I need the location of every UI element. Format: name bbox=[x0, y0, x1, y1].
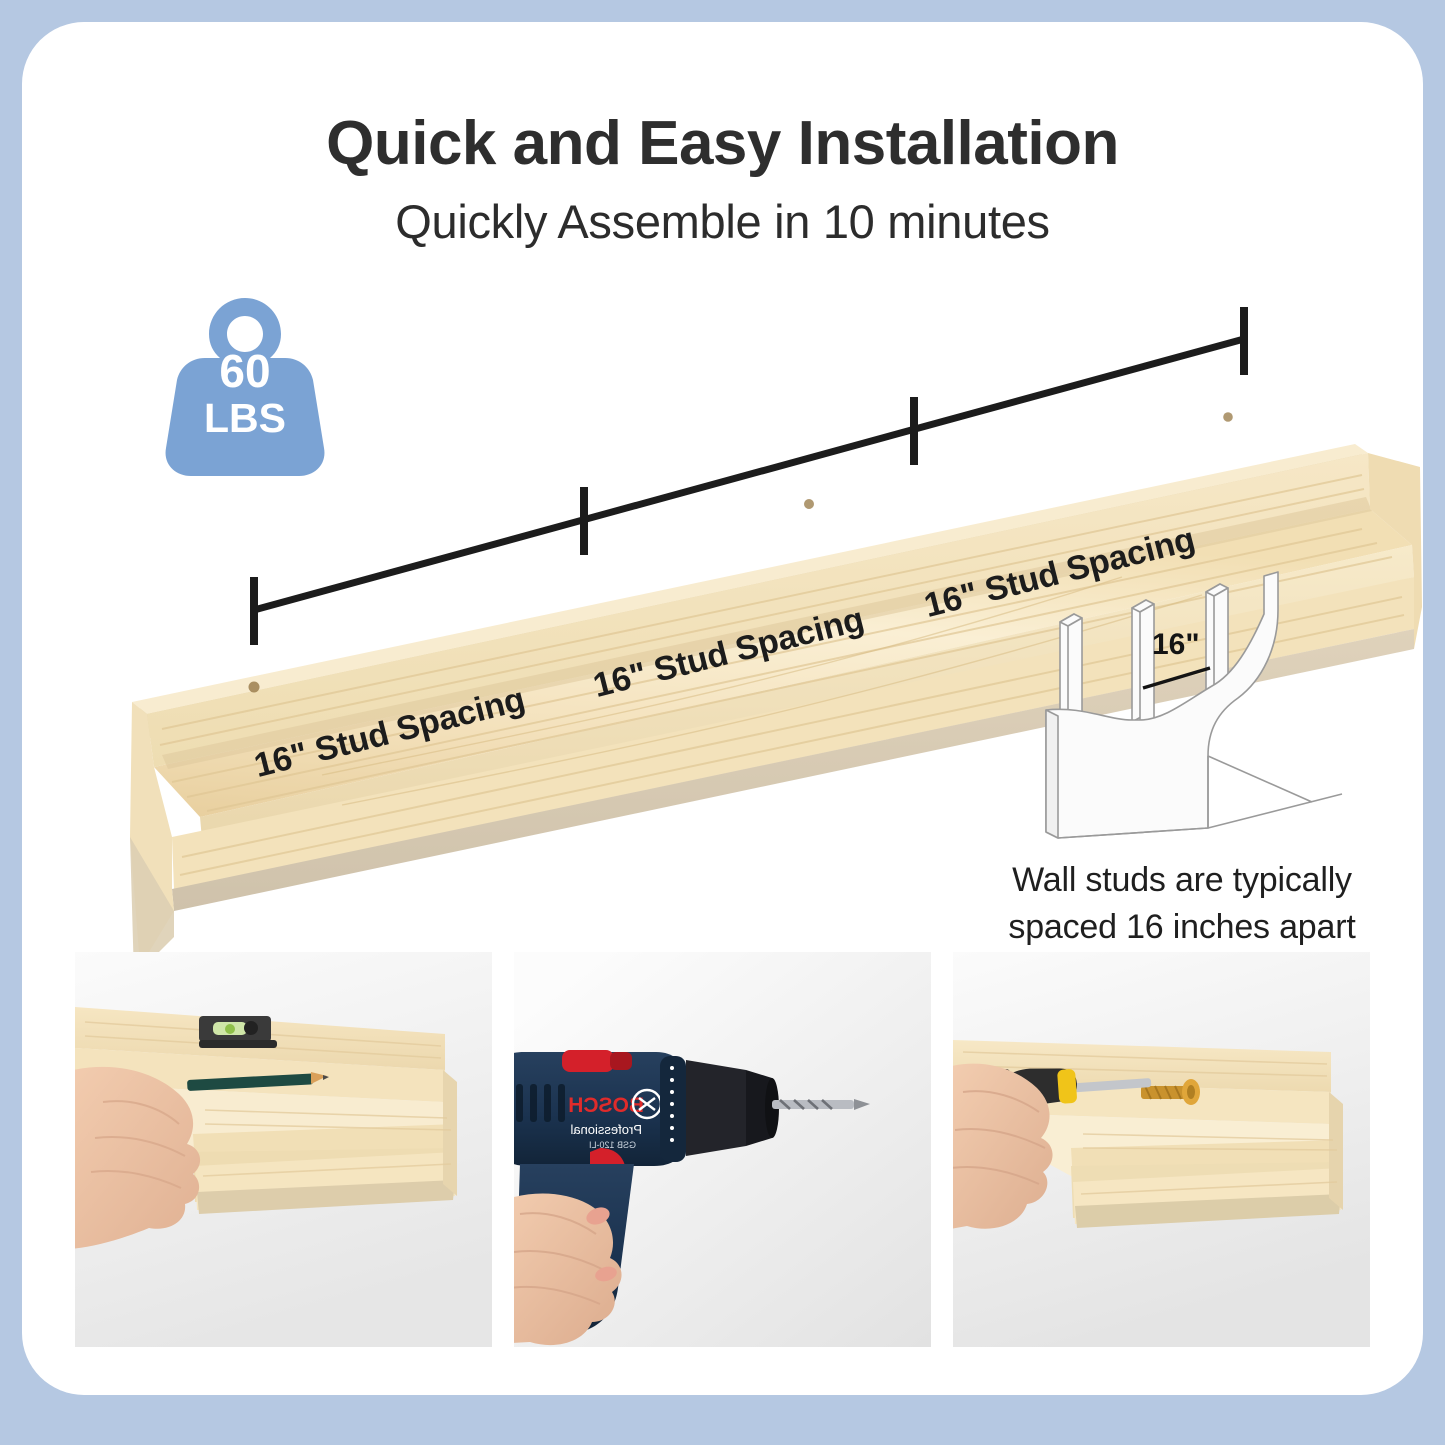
page-title: Quick and Easy Installation bbox=[22, 108, 1423, 179]
step-photo-3 bbox=[953, 952, 1370, 1347]
step-photo-2: BOSCH Professional GSB 120-LI bbox=[514, 952, 931, 1347]
drive-screw-with-screwdriver-image bbox=[953, 952, 1370, 1347]
wall-studs-diagram: 16" bbox=[1012, 570, 1382, 855]
screw-hole bbox=[249, 682, 260, 693]
wall-studs-cutaway-icon bbox=[1012, 570, 1382, 855]
screw-hole bbox=[804, 499, 814, 509]
infographic-card: Quick and Easy Installation Quickly Asse… bbox=[22, 22, 1423, 1395]
stud-diagram-caption: Wall studs are typically spaced 16 inche… bbox=[962, 857, 1402, 951]
page-subtitle: Quickly Assemble in 10 minutes bbox=[22, 194, 1423, 249]
drill-hole-in-wall-image: BOSCH Professional GSB 120-LI bbox=[514, 952, 931, 1347]
svg-text:Professional: Professional bbox=[570, 1122, 642, 1137]
installation-steps-photos: BOSCH Professional GSB 120-LI bbox=[75, 952, 1370, 1347]
screw-hole bbox=[1223, 412, 1233, 422]
drill-bit bbox=[772, 1099, 870, 1110]
spirit-level-tool bbox=[199, 1016, 277, 1048]
stud-dimension-label: 16" bbox=[1152, 628, 1200, 662]
step-photo-1 bbox=[75, 952, 492, 1347]
svg-text:GSB 120-LI: GSB 120-LI bbox=[589, 1140, 636, 1150]
mark-with-pencil-and-level-image bbox=[75, 952, 492, 1347]
